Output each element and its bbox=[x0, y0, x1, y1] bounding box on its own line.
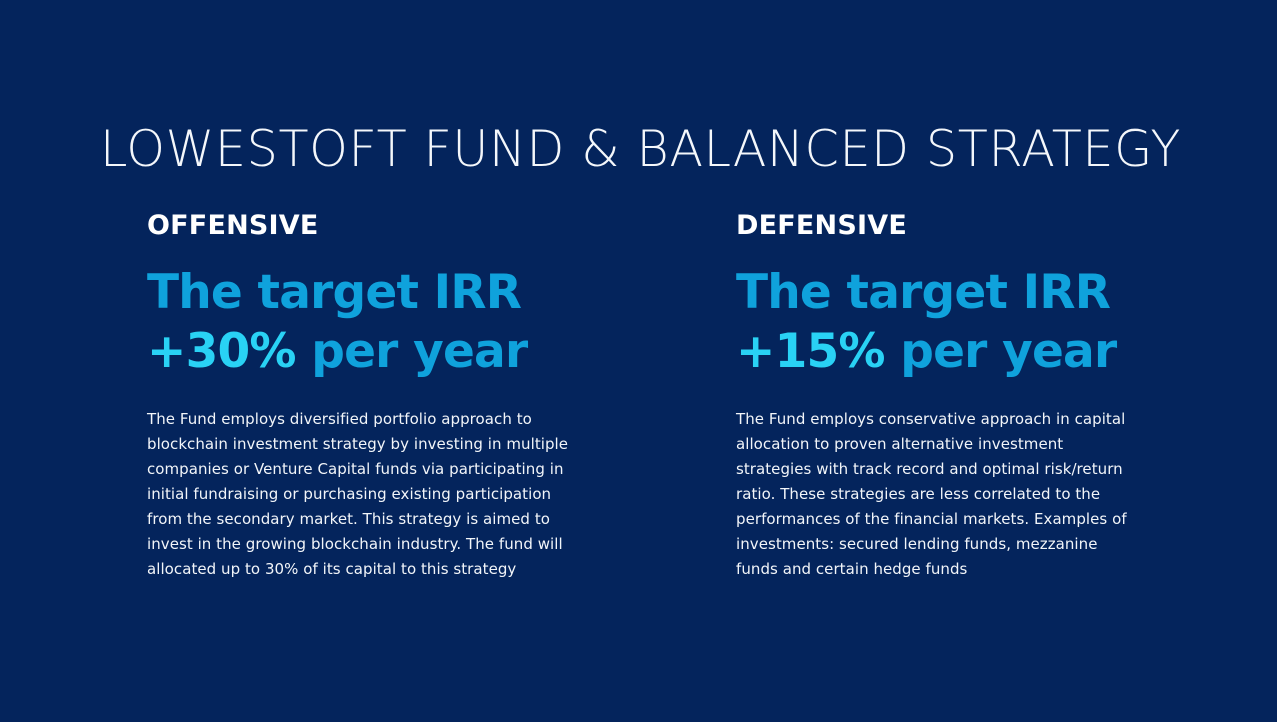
headline-suffix: per year bbox=[296, 324, 528, 379]
headline-line-primary: The target IRR bbox=[736, 263, 1176, 322]
headline-line-primary: The target IRR bbox=[147, 263, 587, 322]
column-body-defensive: The Fund employs conservative approach i… bbox=[736, 407, 1136, 582]
presentation-slide: LOWESTOFT FUND & BALANCED STRATEGY OFFEN… bbox=[0, 0, 1277, 722]
column-headline-defensive: The target IRR +15% per year bbox=[736, 263, 1176, 381]
column-kicker-defensive: DEFENSIVE bbox=[736, 210, 1176, 242]
headline-suffix: per year bbox=[885, 324, 1117, 379]
headline-line-secondary: +15% per year bbox=[736, 322, 1176, 381]
column-kicker-offensive: OFFENSIVE bbox=[147, 210, 587, 242]
strategy-column-defensive: DEFENSIVE The target IRR +15% per year T… bbox=[736, 210, 1176, 582]
headline-accent-value: +15% bbox=[736, 324, 885, 379]
column-body-offensive: The Fund employs diversified portfolio a… bbox=[147, 407, 587, 582]
headline-accent-value: +30% bbox=[147, 324, 296, 379]
headline-line-secondary: +30% per year bbox=[147, 322, 587, 381]
column-headline-offensive: The target IRR +30% per year bbox=[147, 263, 587, 381]
page-title: LOWESTOFT FUND & BALANCED STRATEGY bbox=[100, 120, 1174, 178]
strategy-column-offensive: OFFENSIVE The target IRR +30% per year T… bbox=[147, 210, 587, 582]
